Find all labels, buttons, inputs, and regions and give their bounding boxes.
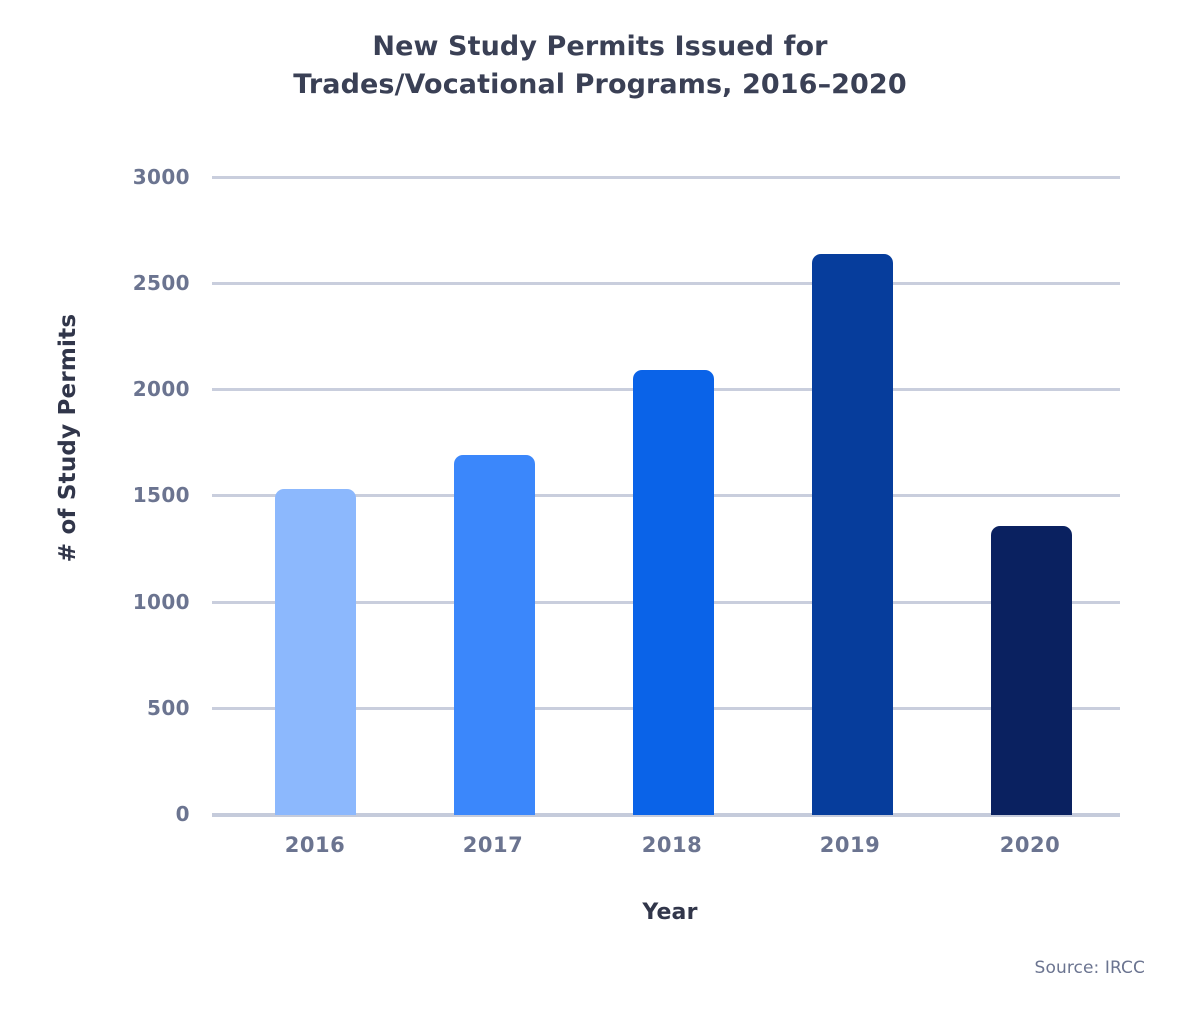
source-note: Source: IRCC: [1035, 958, 1145, 978]
bar-chart-plot-area: # of Study Permits 3000 2500 2000 1500 1…: [0, 0, 1200, 1030]
gridline-2500: [212, 282, 1120, 285]
y-tick-label-1000: 1000: [70, 590, 190, 614]
bar-2020[interactable]: [991, 526, 1072, 815]
bar-2016[interactable]: [275, 489, 356, 815]
x-tick-label-2018: 2018: [592, 833, 752, 857]
gridline-3000: [212, 176, 1120, 179]
y-tick-label-1500: 1500: [70, 483, 190, 507]
x-tick-label-2020: 2020: [950, 833, 1110, 857]
y-axis-title: # of Study Permits: [55, 308, 81, 568]
x-tick-label-2016: 2016: [235, 833, 395, 857]
bar-2019[interactable]: [812, 254, 893, 815]
y-tick-label-2500: 2500: [70, 271, 190, 295]
bar-2018[interactable]: [633, 370, 714, 815]
x-tick-label-2017: 2017: [413, 833, 573, 857]
y-tick-label-2000: 2000: [70, 377, 190, 401]
x-tick-label-2019: 2019: [770, 833, 930, 857]
y-tick-label-500: 500: [70, 696, 190, 720]
x-axis-title: Year: [210, 900, 1130, 925]
y-tick-label-3000: 3000: [70, 165, 190, 189]
y-tick-label-0: 0: [70, 802, 190, 826]
bar-2017[interactable]: [454, 455, 535, 815]
